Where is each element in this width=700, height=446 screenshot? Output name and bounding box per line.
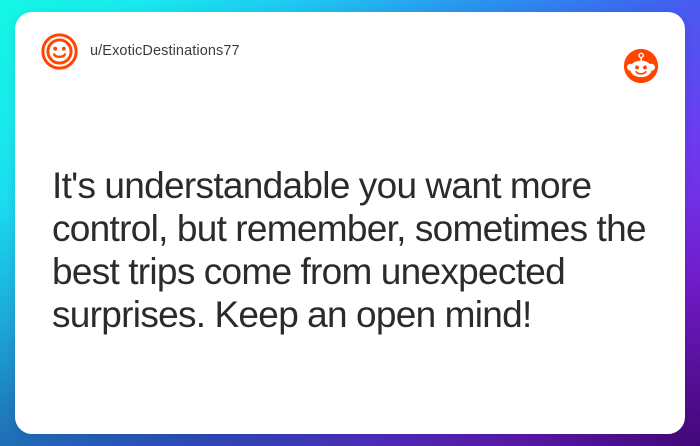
screenshot-canvas: u/ExoticDestinations77: [0, 0, 700, 446]
post-author[interactable]: u/ExoticDestinations77: [41, 33, 240, 70]
smiley-face-avatar-icon[interactable]: [41, 33, 78, 70]
reddit-snoo-logo-icon[interactable]: [623, 48, 659, 84]
post-text: It's understandable you want more contro…: [52, 164, 659, 336]
post-header: u/ExoticDestinations77: [15, 12, 685, 90]
author-username: u/ExoticDestinations77: [90, 43, 240, 59]
reddit-post-card: u/ExoticDestinations77: [15, 12, 685, 434]
